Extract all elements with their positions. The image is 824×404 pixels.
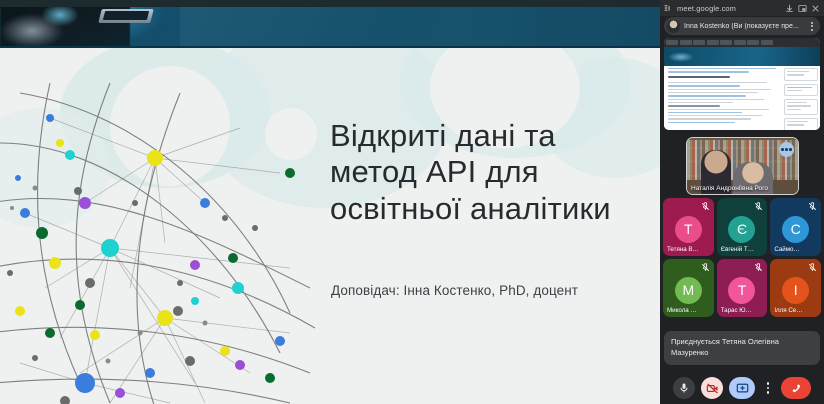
join-toast: Приєднується Тетяна Олегівна Мазуренко [664,331,820,365]
mic-muted-icon [808,202,817,211]
avatar: Т [675,216,702,243]
picture-in-picture-icon[interactable] [798,4,807,13]
avatar: І [782,277,809,304]
microphone-button[interactable] [673,377,695,399]
more-options-icon[interactable] [807,22,817,31]
close-icon[interactable] [811,4,820,13]
url-text: meet.google.com [677,4,781,13]
participant-tile[interactable]: М Микола … [663,259,714,317]
thumbnail-page-content [664,66,820,130]
banner-device-screen [103,11,149,20]
avatar-initial: С [791,221,801,237]
mic-muted-icon [754,263,763,272]
more-options-icon[interactable] [779,142,794,157]
camera-button[interactable] [701,377,723,399]
thumbnail-main-column [668,68,780,125]
thumbnail-tabs [666,40,773,45]
more-options-button[interactable] [761,377,775,399]
participant-name: Ілля Се… [774,307,817,314]
banner-highlight [180,7,660,48]
avatar-initial: Т [738,282,747,298]
avatar: С [782,216,809,243]
mic-muted-icon [808,263,817,272]
meeting-controls [660,372,824,404]
participant-tile[interactable]: С Саймо… [770,198,821,256]
thumbnail-side-column [784,68,818,130]
slide-top-strip [0,0,660,7]
avatar-initial: Т [684,221,693,237]
end-call-icon [789,381,804,396]
toast-message: Приєднується Тетяна Олегівна Мазуренко [671,337,779,357]
shared-slide-area: Відкриті дані та метод API для освітньої… [0,0,660,404]
cast-icon[interactable] [664,4,673,13]
slide-banner [0,7,660,48]
avatar: М [675,277,702,304]
meet-side-panel: meet.google.com Inna Kostenko (Ви (показ… [660,0,824,404]
mic-muted-icon [754,202,763,211]
meet-screen-share-window: Відкриті дані та метод API для освітньої… [0,0,824,404]
camera-off-icon [706,382,719,395]
participant-tile[interactable]: Є Євгеній Т… [717,198,768,256]
mic-icon [678,382,690,394]
participant-name: Микола … [667,307,710,314]
browser-top-bar: meet.google.com [660,0,824,16]
video-participant-name: Наталія Андроніївна Рого [691,185,794,192]
avatar-initial: Є [737,221,747,237]
participant-tile[interactable]: Т Тетяна В… [663,198,714,256]
participant-name: Тарас Ю… [721,307,764,314]
more-vertical-icon [767,382,770,394]
shared-screen-thumbnail[interactable] [664,38,820,130]
presenter-bar[interactable]: Inna Kostenko (Ви (показуєте пре... [664,17,820,35]
network-graph-icon [0,83,320,404]
participant-name: Тетяна В… [667,246,710,253]
avatar: Т [728,277,755,304]
mic-muted-icon [701,263,710,272]
present-screen-icon [736,382,749,395]
thumbnail-hero-banner [664,47,820,66]
participant-name: Євгеній Т… [721,246,764,253]
download-icon[interactable] [785,4,794,13]
avatar: Є [728,216,755,243]
avatar-initial: М [682,282,694,298]
participant-tile[interactable]: І Ілля Се… [770,259,821,317]
participant-tile[interactable]: Т Тарас Ю… [717,259,768,317]
slide-subtitle: Доповідач: Інна Костенко, PhD, доцент [331,283,631,298]
avatar-initial: І [794,282,798,298]
participant-grid: Т Тетяна В… Є [663,198,821,317]
end-call-button[interactable] [781,377,811,399]
avatar [667,20,680,33]
participant-name: Саймо… [774,246,817,253]
presenter-name: Inna Kostenko (Ви (показуєте пре... [684,23,803,30]
video-tile-active-speaker[interactable]: Наталія Андроніївна Рого [686,137,799,195]
thumbnail-browser-chrome [664,38,820,47]
mic-muted-icon [701,202,710,211]
slide-title: Відкриті дані та метод API для освітньої… [330,118,630,227]
present-button[interactable] [729,377,755,399]
